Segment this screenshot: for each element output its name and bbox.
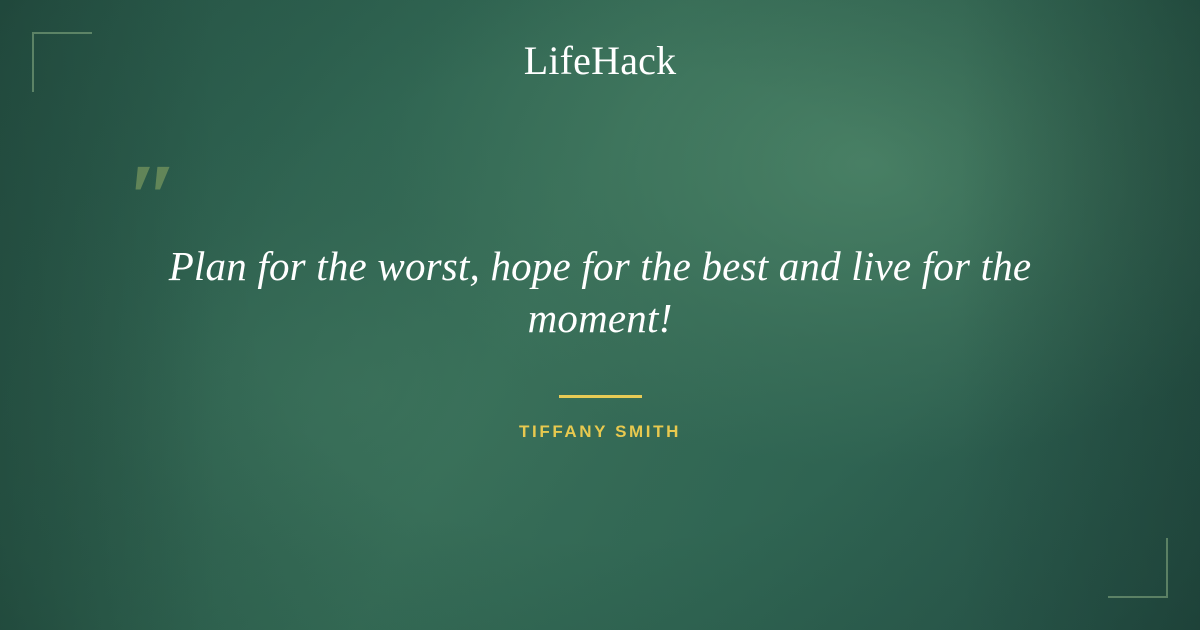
gold-divider <box>559 395 642 398</box>
corner-bracket-bottom-right-icon <box>1108 538 1168 598</box>
quote-text: Plan for the worst, hope for the best an… <box>160 240 1040 344</box>
quote-content: Plan for the worst, hope for the best an… <box>0 240 1200 442</box>
quote-author: TIFFANY SMITH <box>0 422 1200 442</box>
brand-logo: LifeHack <box>0 38 1200 84</box>
quotation-mark-icon: ″ <box>126 150 179 246</box>
quote-card: LifeHack ″ Plan for the worst, hope for … <box>0 0 1200 630</box>
